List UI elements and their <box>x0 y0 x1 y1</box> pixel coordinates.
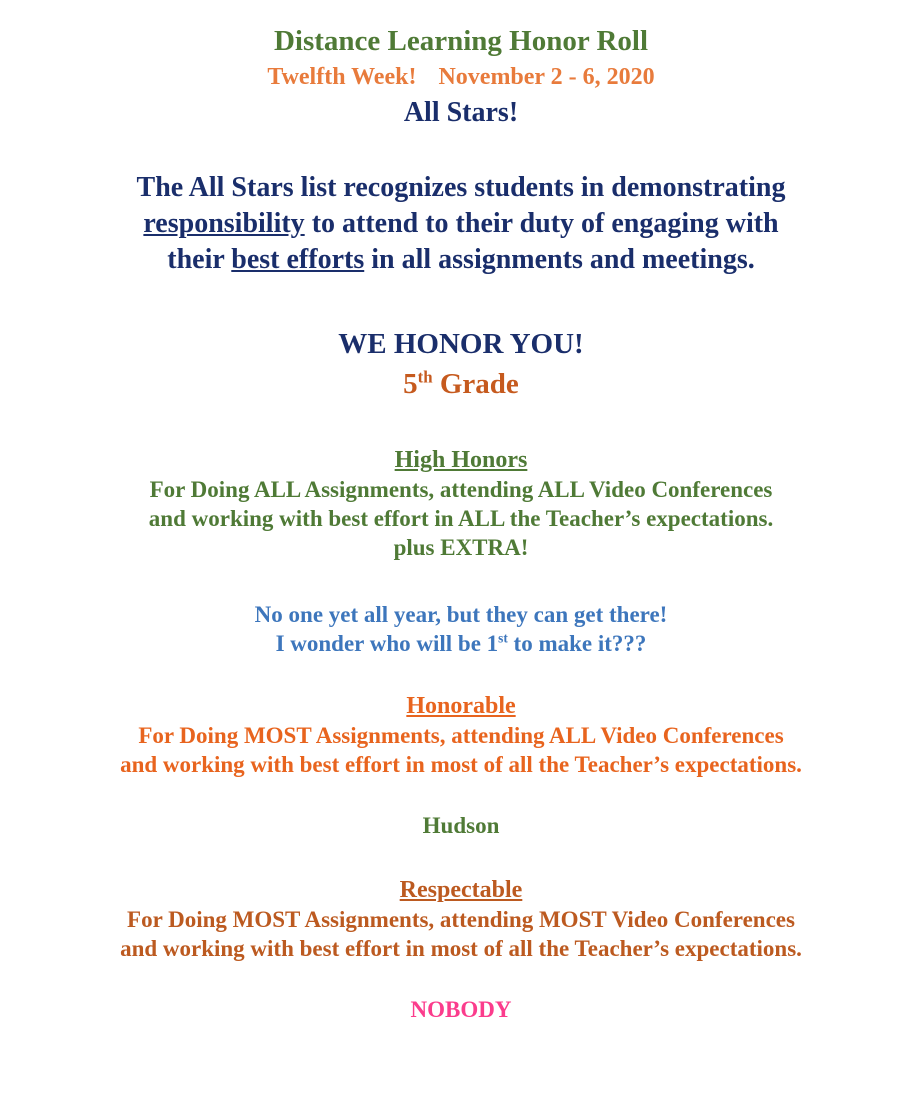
criteria-line: and working with best effort in most of … <box>0 931 922 960</box>
section-heading-respectable: Respectable <box>0 878 922 902</box>
intro-line-2: responsibility to attend to their duty o… <box>0 210 922 246</box>
section-high-honors: High Honors For Doing ALL Assignments, a… <box>0 399 922 559</box>
grade-ordinal-suffix: th <box>418 367 433 386</box>
page-title: Distance Learning Honor Roll <box>0 0 922 56</box>
section-body-respectable: For Doing MOST Assignments, attending MO… <box>0 902 922 960</box>
honor-roll-document: Distance Learning Honor Roll Twelfth Wee… <box>0 0 922 1120</box>
section-heading-respectable-text: Respectable <box>400 877 523 903</box>
criteria-line: For Doing MOST Assignments, attending AL… <box>0 718 922 747</box>
intro-line-3-rest: in all assignments and meetings. <box>364 244 755 275</box>
intro-emphasis-responsibility: responsibility <box>143 208 304 239</box>
section-body-honorable: For Doing MOST Assignments, attending AL… <box>0 718 922 776</box>
list-name-heading: All Stars! <box>0 89 922 127</box>
section-respectable: Respectable For Doing MOST Assignments, … <box>0 837 922 960</box>
respectable-student-names: NOBODY <box>0 960 922 1021</box>
criteria-line: For Doing ALL Assignments, attending ALL… <box>0 472 922 501</box>
intro-line-3: their best efforts in all assignments an… <box>0 246 922 282</box>
criteria-line: and working with best effort in ALL the … <box>0 501 922 530</box>
date-range: November 2 - 6, 2020 <box>438 64 654 90</box>
intro-line-1: The All Stars list recognizes students i… <box>0 174 922 210</box>
section-heading-high-honors-text: High Honors <box>395 447 528 473</box>
student-name: Hudson <box>0 814 922 837</box>
high-honors-empty-note: No one yet all year, but they can get th… <box>0 559 922 655</box>
intro-emphasis-best-efforts: best efforts <box>231 244 364 275</box>
honorable-student-names: Hudson <box>0 776 922 837</box>
grade-heading: 5th Grade <box>0 359 922 399</box>
intro-line-3-start: their <box>167 244 231 275</box>
we-honor-you-heading: WE HONOR YOU! <box>0 282 922 359</box>
grade-word: Grade <box>433 368 519 400</box>
intro-paragraph: The All Stars list recognizes students i… <box>0 127 922 282</box>
note-line-2-rest: to make it??? <box>508 631 647 656</box>
criteria-line: plus EXTRA! <box>0 530 922 559</box>
grade-number: 5 <box>403 368 418 400</box>
intro-line-2-rest: to attend to their duty of engaging with <box>305 208 779 239</box>
week-label: Twelfth Week! <box>267 64 416 90</box>
section-body-high-honors: For Doing ALL Assignments, attending ALL… <box>0 472 922 559</box>
section-heading-high-honors: High Honors <box>0 448 922 472</box>
criteria-line: and working with best effort in most of … <box>0 747 922 776</box>
section-heading-honorable: Honorable <box>0 694 922 718</box>
criteria-line: For Doing MOST Assignments, attending MO… <box>0 902 922 931</box>
week-and-date-subtitle: Twelfth Week!November 2 - 6, 2020 <box>0 56 922 89</box>
note-line-2-start: I wonder who will be 1 <box>276 631 499 656</box>
note-line-1: No one yet all year, but they can get th… <box>0 597 922 626</box>
section-heading-honorable-text: Honorable <box>406 693 515 719</box>
section-honorable: Honorable For Doing MOST Assignments, at… <box>0 655 922 776</box>
note-ordinal-suffix: st <box>498 630 508 645</box>
note-line-2: I wonder who will be 1st to make it??? <box>0 626 922 655</box>
